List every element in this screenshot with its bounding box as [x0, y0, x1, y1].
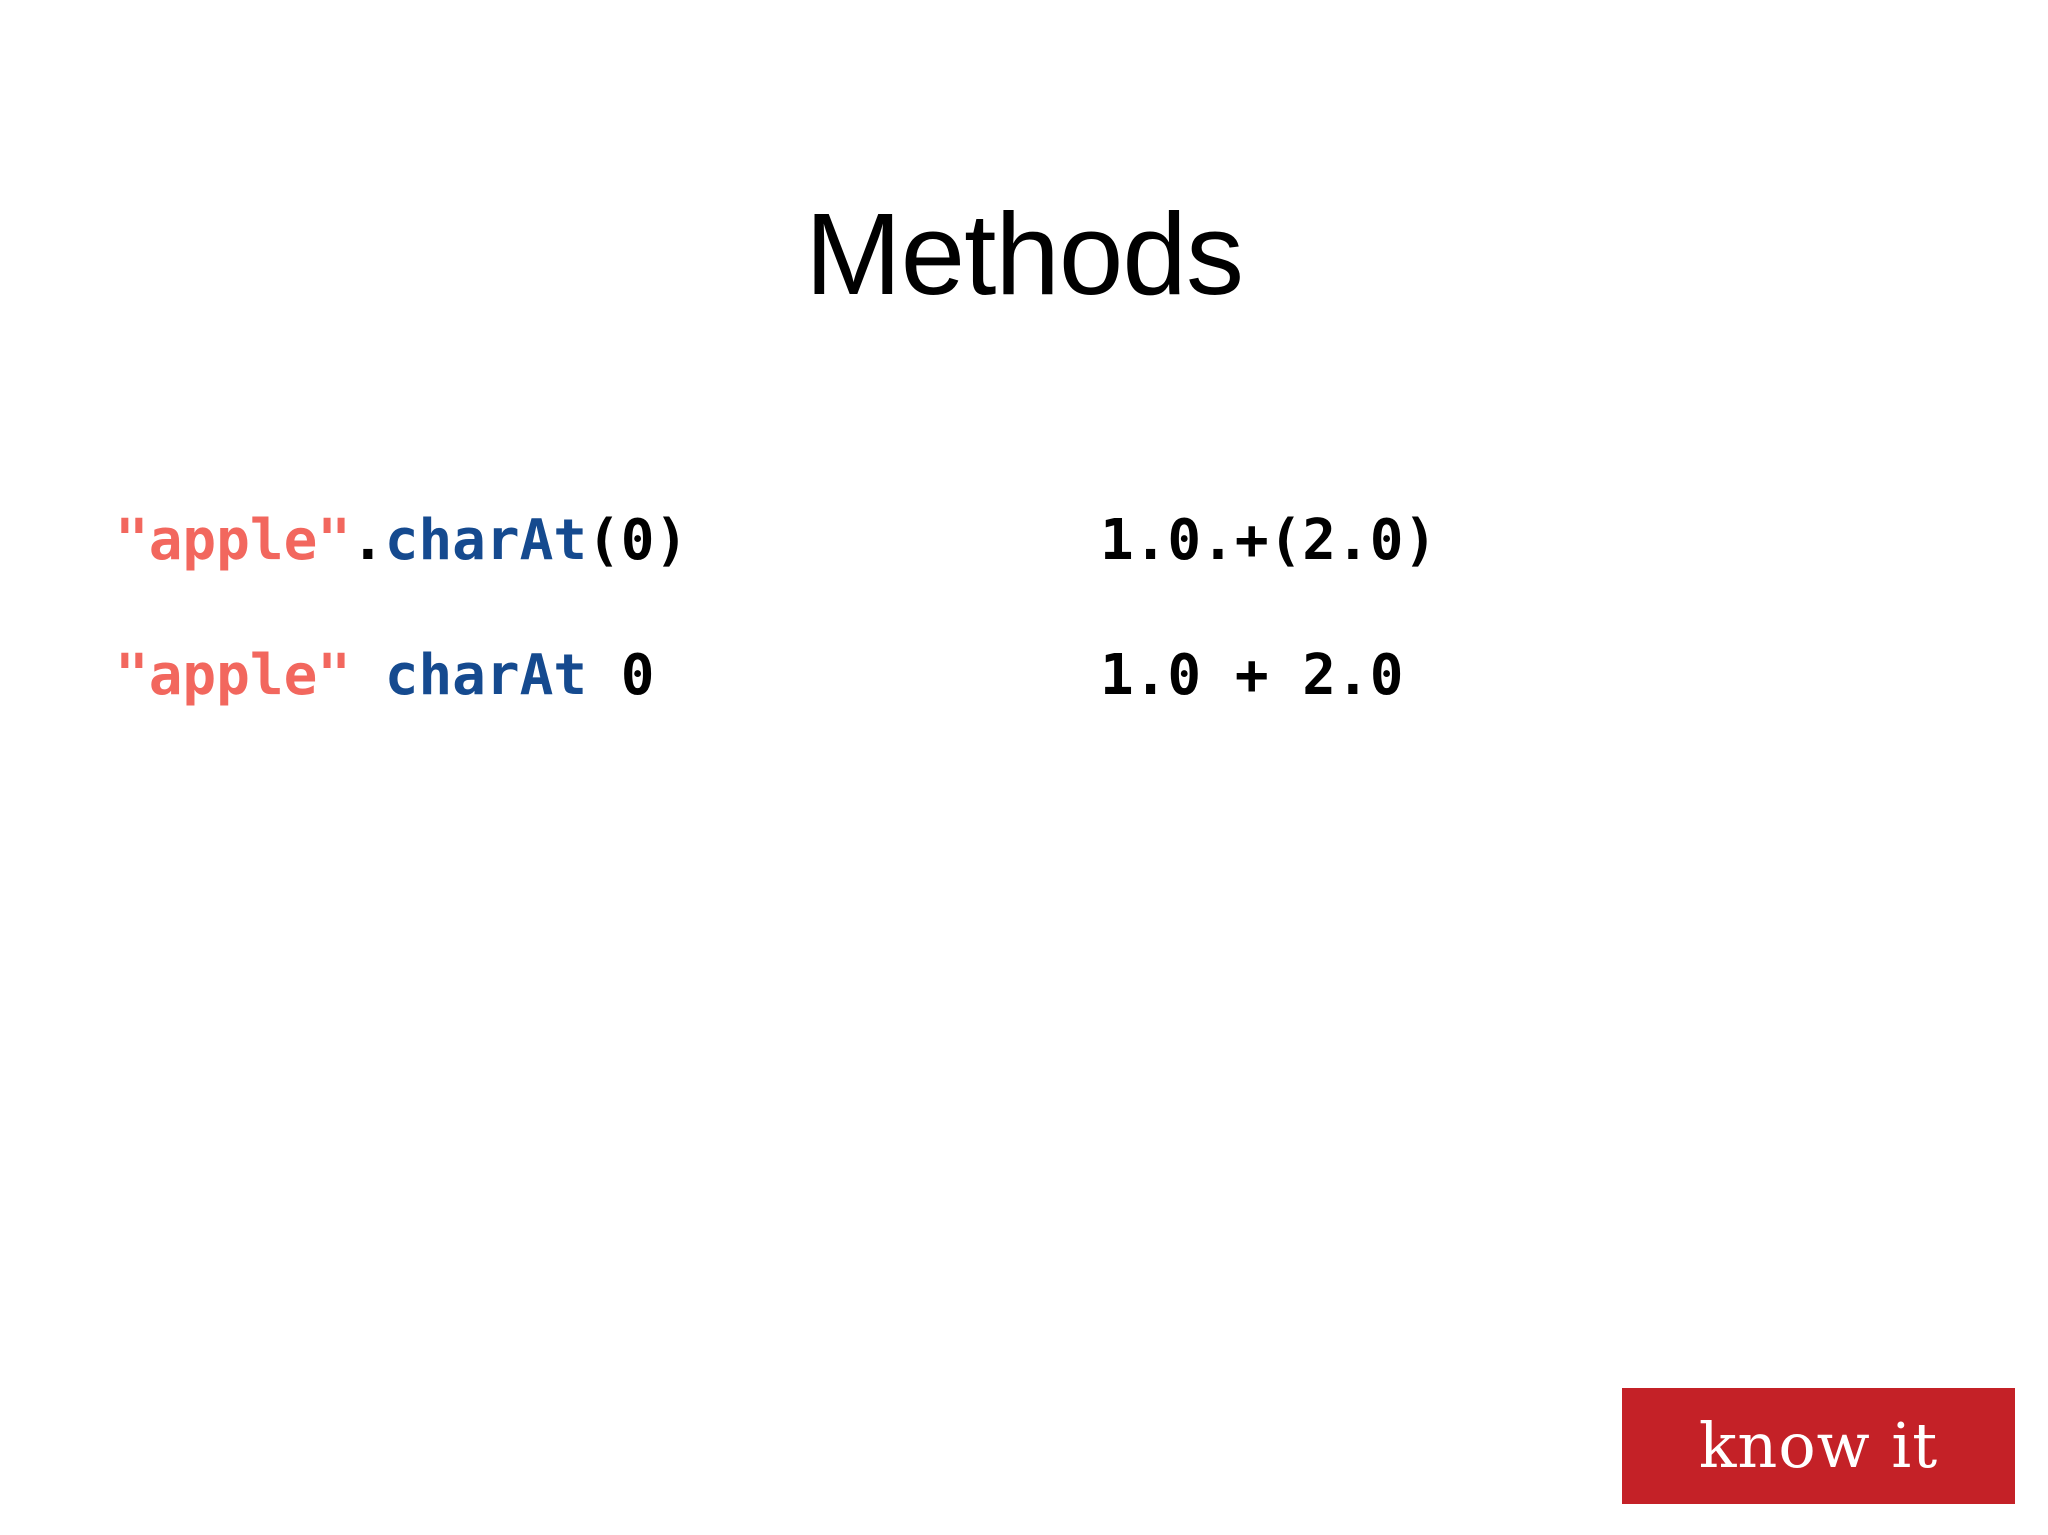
code-token-string-literal: "apple" — [115, 508, 351, 573]
code-snippet-plus-dot-notation: 1.0.+(2.0) — [1100, 505, 1437, 577]
code-token-expression: 1.0.+(2.0) — [1100, 508, 1437, 573]
code-token-method-name: charAt — [385, 508, 587, 573]
code-token-expression: 1.0 + 2.0 — [1100, 643, 1403, 708]
code-snippet-charat-infix-notation: "apple" charAt 0 — [115, 640, 654, 712]
page-title: Methods — [0, 196, 2048, 312]
code-snippet-charat-dot-notation: "apple".charAt(0) — [115, 505, 688, 577]
code-token-dot-operator: . — [351, 508, 385, 573]
know-it-badge-label: know it — [1699, 1415, 1938, 1477]
code-token-arguments: (0) — [587, 508, 688, 573]
code-token-separator-space — [351, 643, 385, 708]
code-snippet-plus-infix-notation: 1.0 + 2.0 — [1100, 640, 1403, 712]
code-token-string-literal: "apple" — [115, 643, 351, 708]
code-row: "apple".charAt(0) 1.0.+(2.0) — [115, 505, 1915, 640]
code-token-method-name: charAt — [385, 643, 587, 708]
know-it-badge: know it — [1622, 1388, 2015, 1504]
code-examples-grid: "apple".charAt(0) 1.0.+(2.0) "apple" cha… — [115, 505, 1915, 775]
code-token-arguments: 0 — [587, 643, 654, 708]
slide-canvas: Methods "apple".charAt(0) 1.0.+(2.0) "ap… — [0, 0, 2048, 1535]
code-row: "apple" charAt 0 1.0 + 2.0 — [115, 640, 1915, 775]
